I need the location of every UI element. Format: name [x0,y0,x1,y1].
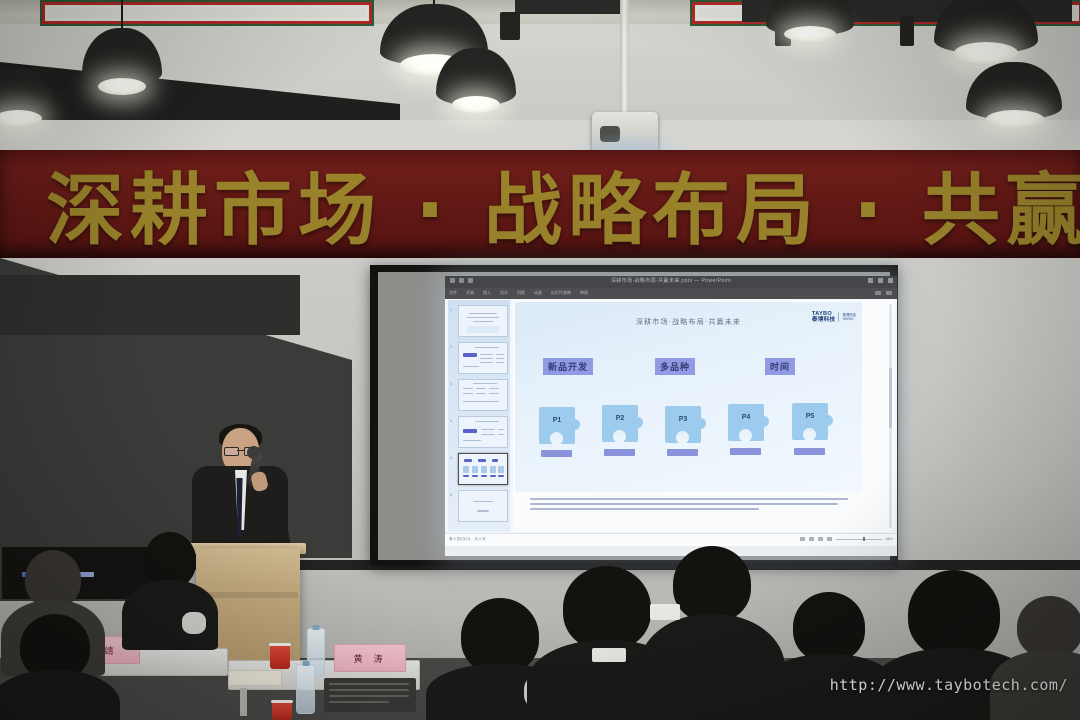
slide-thumbnail-1[interactable] [458,305,508,337]
puzzle-piece-2[interactable]: P3 [665,406,706,443]
pendant-lamp-1 [76,0,168,110]
audience-person-6 [652,546,772,720]
slide-thumbnail-4[interactable] [458,416,508,448]
puzzle-piece-label-0: P1 [539,417,575,424]
view-sorter-icon[interactable] [809,537,814,541]
name-card-2: 黄 涛 [334,644,406,672]
watermark-url: http://www.taybotech.com/ [830,676,1068,694]
slide-thumbnail-2[interactable] [458,342,508,374]
logo-side-bottom: TAYBO [842,317,856,321]
face-mask-1 [182,612,206,634]
shirt-collar-1 [592,648,626,662]
slide-notes-pane[interactable] [530,498,848,512]
puzzle-caption-4[interactable] [794,448,825,455]
highlight-label-0[interactable]: 新品开发 [543,358,593,375]
ribbon-tab-3[interactable]: 设计 [500,290,508,296]
ceiling-track-3 [900,16,914,46]
banner-text: 深耕市场 · 战略布局 · 共赢 [46,150,1080,258]
thumbnail-number-1: 1 [450,308,452,312]
pendant-lamp-3 [430,48,522,140]
ribbon-tab-4[interactable]: 切换 [517,290,525,296]
paper-cup-2 [272,702,292,720]
minimize-icon[interactable] [868,278,873,283]
maximize-icon[interactable] [878,278,883,283]
notes-line-1 [530,503,838,505]
thumbnail-number-2: 2 [450,345,452,349]
view-slideshow-icon[interactable] [827,537,832,541]
puzzle-caption-2[interactable] [667,449,698,456]
highlight-label-1[interactable]: 多品种 [655,358,695,375]
slide-counter: 第 5 张幻灯片，共 6 张 [449,537,486,542]
notes-line-0 [530,498,848,500]
microphone-head [247,446,260,459]
thumbnail-number-4: 4 [450,419,452,423]
window-controls[interactable] [868,278,893,283]
zoom-slider[interactable] [836,537,882,541]
puzzle-piece-label-2: P3 [665,416,701,423]
puzzle-piece-label-3: P4 [728,414,764,421]
conference-room-photo: 深耕市场 · 战略布局 · 共赢 深耕市场·战略布局·共赢未来.pptx — P… [0,0,1080,720]
ribbon-tab-7[interactable]: 审阅 [580,290,588,296]
ribbon-right-controls[interactable] [875,291,892,295]
slide-thumbnail-5[interactable] [458,453,508,485]
puzzle-piece-3[interactable]: P4 [728,404,769,441]
notes-line-2 [530,508,759,510]
ribbon-tab-list[interactable]: 文件 开始 插入 设计 切换 动画 幻灯片放映 审阅 [449,290,588,296]
current-slide[interactable]: 深耕市场·战略布局·共赢未来 TAYBO 泰博科技 泰博科技 TAYBO 新品开… [515,302,862,492]
table-leg-1 [240,688,247,716]
shirt-collar-2 [650,604,680,620]
thumbnail-number-3: 3 [450,382,452,386]
logo-divider [838,312,839,322]
ribbon-tab-0[interactable]: 文件 [449,290,457,296]
paper-cup-1 [270,645,290,669]
thumbnail-number-5: 5 [450,456,452,460]
ribbon-tab-1[interactable]: 开始 [466,290,474,296]
status-right-group[interactable]: 66% [800,537,893,541]
name-card-text-2: 黄 涛 [354,652,387,665]
audience-person-3 [0,614,110,720]
puzzle-caption-3[interactable] [730,448,761,455]
pendant-lamp-4 [0,68,74,148]
view-reading-icon[interactable] [818,537,823,541]
projector-pole [620,0,629,118]
notebook [228,670,282,686]
company-logo: TAYBO 泰博科技 泰博科技 TAYBO [812,311,856,323]
puzzle-piece-4[interactable]: P5 [792,403,833,440]
slide-thumbnail-pane[interactable]: 1 2 [448,300,510,532]
pendant-lamp-5 [760,0,860,54]
puzzle-caption-1[interactable] [604,449,635,456]
puzzle-piece-0[interactable]: P1 [539,407,580,444]
slide-editing-area[interactable]: 深耕市场·战略布局·共赢未来 TAYBO 泰博科技 泰博科技 TAYBO 新品开… [513,300,894,532]
left-wall-panel [0,275,300,335]
slide-thumbnail-6[interactable] [458,490,508,522]
ribbon-tab-5[interactable]: 动画 [534,290,542,296]
ribbon-tab-2[interactable]: 插入 [483,290,491,296]
puzzle-piece-1[interactable]: P2 [602,405,643,442]
powerpoint-workspace: 1 2 [445,299,897,533]
puzzle-piece-label-4: P5 [792,413,828,420]
view-normal-icon[interactable] [800,537,805,541]
ribbon-collapse-icon[interactable] [886,291,892,295]
ribbon-tab-6[interactable]: 幻灯片放映 [551,290,571,296]
close-icon[interactable] [888,278,893,283]
slide-title: 深耕市场·战略布局·共赢未来 [515,317,862,327]
slide-thumbnail-3[interactable] [458,379,508,411]
status-left-group: 第 5 张幻灯片，共 6 张 [449,537,486,542]
logo-mark-sub: 泰博科技 [812,317,836,323]
vertical-scrollbar[interactable] [889,304,892,528]
share-icon[interactable] [875,291,881,295]
powerpoint-status-bar: 第 5 张幻灯片，共 6 张 66% [445,533,897,546]
podium-band [198,592,298,598]
puzzle-caption-0[interactable] [541,450,572,457]
water-bottle-2 [296,664,315,714]
keyboard [324,678,416,712]
projected-powerpoint-window[interactable]: 深耕市场·战略布局·共赢未来.pptx — PowerPoint 文件 开始 插… [445,276,897,556]
pendant-lamp-7 [960,62,1068,154]
ribbon-tabs-bar[interactable]: 文件 开始 插入 设计 切换 动画 幻灯片放映 审阅 [445,288,897,299]
puzzle-piece-label-1: P2 [602,415,638,422]
audience-person-9 [1000,596,1080,720]
scrollbar-thumb[interactable] [889,368,892,428]
window-title: 深耕市场·战略布局·共赢未来.pptx — PowerPoint [445,277,897,284]
ceiling-beam-left [515,0,627,14]
zoom-level: 66% [886,537,893,541]
thumbnail-number-6: 6 [450,493,452,497]
highlight-label-2[interactable]: 时间 [765,358,795,375]
ceiling-track-1 [500,12,520,40]
